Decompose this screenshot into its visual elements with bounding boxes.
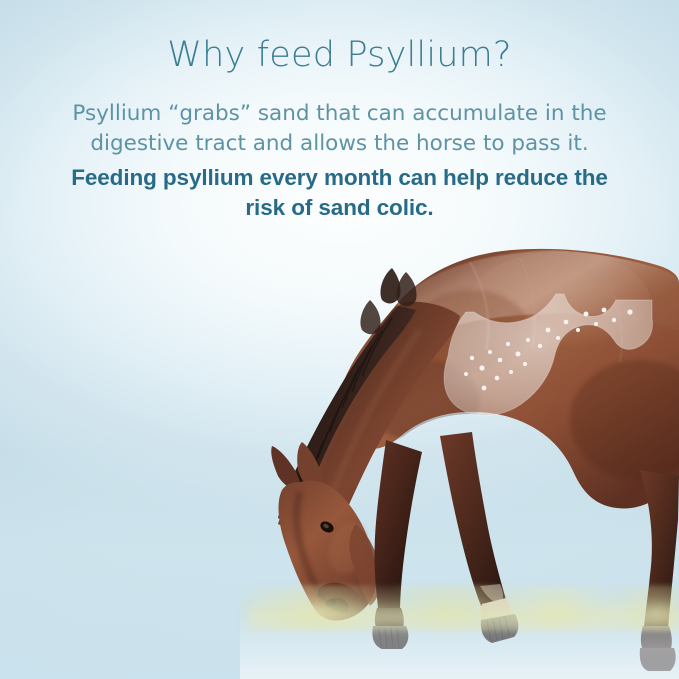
body-emphasis-line-2: risk of sand colic. [25, 193, 655, 224]
body-copy: Psyllium “grabs” sand that can accumulat… [40, 99, 640, 160]
body-copy-line-1: Psyllium “grabs” sand that can accumulat… [40, 99, 640, 130]
body-copy-line-2: digestive tract and allows the horse to … [40, 129, 640, 160]
body-emphasis-line-1: Feeding psyllium every month can help re… [25, 163, 655, 194]
page-title: Why feed Psyllium? [0, 34, 679, 77]
headline-block: Why feed Psyllium? Psyllium “grabs” sand… [0, 0, 679, 224]
body-copy-emphasis: Feeding psyllium every month can help re… [25, 163, 655, 224]
promo-infographic-canvas: Why feed Psyllium? Psyllium “grabs” sand… [0, 0, 679, 679]
